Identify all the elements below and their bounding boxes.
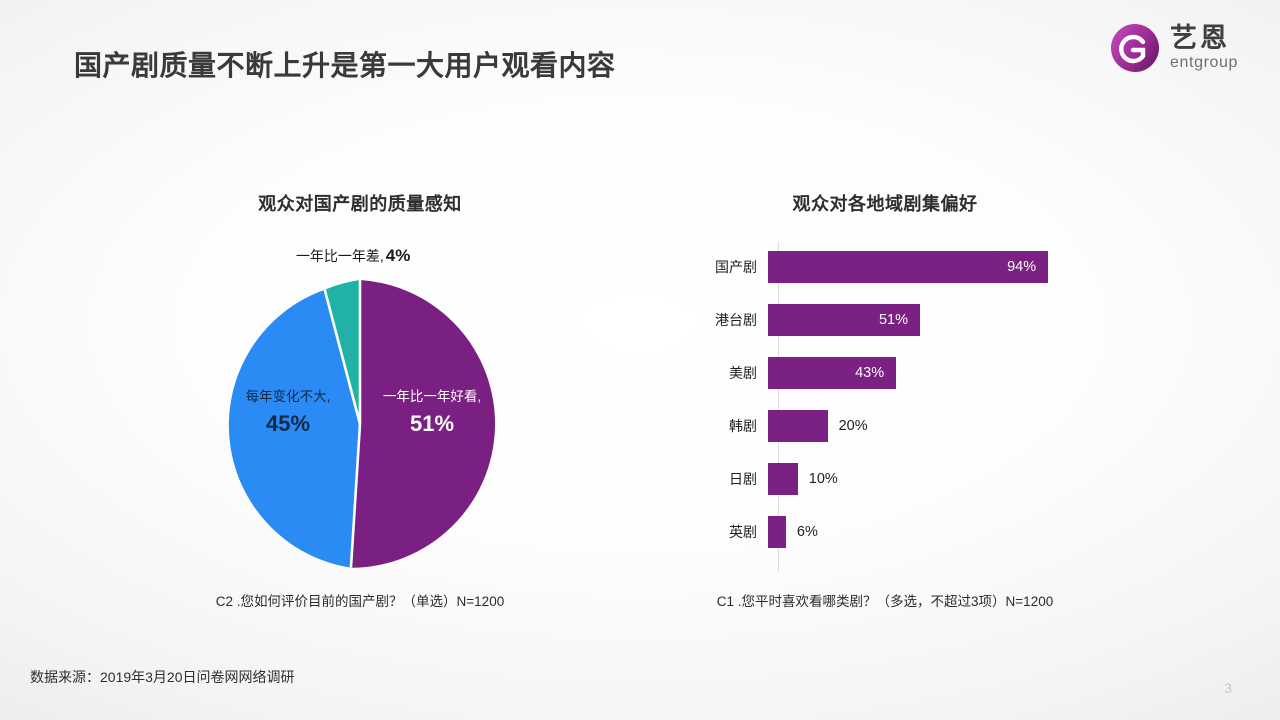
- pie-label-good-value: 51%: [364, 409, 500, 439]
- bar-fill: 51%: [768, 304, 920, 336]
- bar-value-label: 6%: [797, 524, 818, 540]
- pie-callout-label: 一年比一年差,: [296, 248, 384, 264]
- bar-row: 港台剧51%: [650, 301, 1120, 339]
- pie-callout-worse: 一年比一年差,4%: [296, 246, 410, 266]
- pie-chart-note: C2 .您如何评价目前的国产剧？（单选）N=1200: [150, 590, 570, 610]
- bar-row: 韩剧20%: [650, 407, 1120, 445]
- bar-category-label: 国产剧: [650, 257, 768, 277]
- bar-row: 美剧43%: [650, 354, 1120, 392]
- bar-category-label: 韩剧: [650, 416, 768, 436]
- pie-chart-panel: 观众对国产剧的质量感知 一年比一年差,4% 一年比一年好看, 51% 每年变化不…: [150, 190, 570, 620]
- pie-label-same: 每年变化不大, 45%: [220, 388, 356, 439]
- bar-fill: 43%: [768, 357, 896, 389]
- bar-row: 英剧6%: [650, 513, 1120, 551]
- bar-chart-note: C1 .您平时喜欢看哪类剧？（多选，不超过3项）N=1200: [650, 590, 1120, 610]
- bar-track: 6%: [768, 513, 1120, 551]
- bar-track: 20%: [768, 407, 1120, 445]
- bar-track: 43%: [768, 354, 1120, 392]
- bar-track: 51%: [768, 301, 1120, 339]
- bar-category-label: 日剧: [650, 469, 768, 489]
- pie-callout-value: 4%: [386, 246, 411, 265]
- entgroup-e-icon: [1109, 22, 1161, 74]
- bar-value-label: 10%: [809, 471, 838, 487]
- page-title: 国产剧质量不断上升是第一大用户观看内容: [74, 44, 616, 84]
- logo-wordmark: 艺恩 entgroup: [1170, 25, 1238, 71]
- pie-label-good: 一年比一年好看, 51%: [364, 388, 500, 439]
- bar-fill: 94%: [768, 251, 1048, 283]
- bar-chart-title: 观众对各地域剧集偏好: [650, 190, 1120, 216]
- logo-en-name: entgroup: [1170, 55, 1238, 71]
- bar-category-label: 港台剧: [650, 310, 768, 330]
- bar-chart-panel: 观众对各地域剧集偏好 国产剧94%港台剧51%美剧43%韩剧20%日剧10%英剧…: [650, 190, 1120, 620]
- pie-chart: 一年比一年好看, 51% 每年变化不大, 45%: [212, 276, 508, 572]
- bar-row: 国产剧94%: [650, 248, 1120, 286]
- bar-value-label: 20%: [839, 418, 868, 434]
- logo-cn-name: 艺恩: [1170, 25, 1230, 52]
- bar-fill: [768, 463, 798, 495]
- bar-category-label: 美剧: [650, 363, 768, 383]
- pie-label-same-value: 45%: [220, 409, 356, 439]
- pie-label-same-name: 每年变化不大,: [220, 388, 356, 406]
- page-number: 3: [1224, 680, 1232, 696]
- bar-chart: 国产剧94%港台剧51%美剧43%韩剧20%日剧10%英剧6%: [650, 242, 1120, 572]
- bar-track: 10%: [768, 460, 1120, 498]
- bar-row: 日剧10%: [650, 460, 1120, 498]
- source-note: 数据来源：2019年3月20日问卷网网络调研: [30, 667, 295, 687]
- bar-track: 94%: [768, 248, 1120, 286]
- pie-chart-title: 观众对国产剧的质量感知: [150, 190, 570, 216]
- bar-value-label: 94%: [1007, 259, 1048, 275]
- brand-logo: 艺恩 entgroup: [1109, 22, 1238, 74]
- bar-category-label: 英剧: [650, 522, 768, 542]
- bar-value-label: 51%: [879, 312, 920, 328]
- bar-value-label: 43%: [855, 365, 896, 381]
- bar-fill: [768, 516, 786, 548]
- bar-fill: [768, 410, 828, 442]
- pie-label-good-name: 一年比一年好看,: [364, 388, 500, 406]
